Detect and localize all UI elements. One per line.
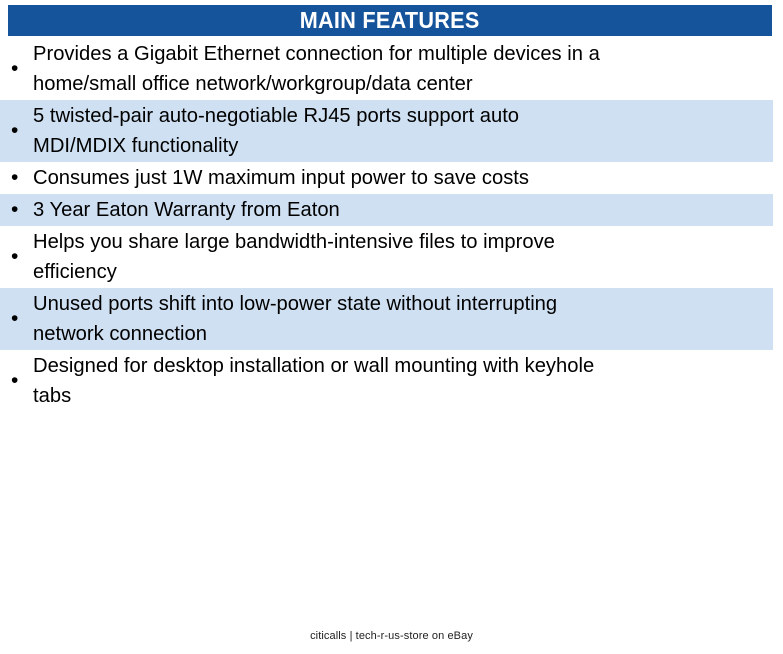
list-item-text: Helps you share large bandwidth-intensiv…: [33, 227, 762, 287]
main-features-header: MAIN FEATURES: [8, 5, 772, 36]
list-item-text: 5 twisted-pair auto-negotiable RJ45 port…: [33, 101, 762, 161]
footer-attribution: citicalls | tech-r-us-store on eBay: [310, 630, 473, 642]
bullet-icon: •: [11, 167, 33, 188]
bullet-icon: •: [11, 199, 33, 220]
list-item-text: 3 Year Eaton Warranty from Eaton: [33, 195, 762, 225]
list-item-text: Consumes just 1W maximum input power to …: [33, 163, 762, 193]
bullet-icon: •: [11, 370, 33, 391]
feature-sheet: MAIN FEATURES • Provides a Gigabit Ether…: [0, 0, 783, 654]
list-item: • Designed for desktop installation or w…: [0, 350, 773, 412]
list-item: • Consumes just 1W maximum input power t…: [0, 162, 773, 194]
list-item-text: Designed for desktop installation or wal…: [33, 351, 762, 411]
list-item-text: Unused ports shift into low-power state …: [33, 289, 762, 349]
footer: citicalls | tech-r-us-store on eBay: [0, 626, 783, 644]
list-item: • 3 Year Eaton Warranty from Eaton: [0, 194, 773, 226]
list-item: • Provides a Gigabit Ethernet connection…: [0, 38, 773, 100]
bullet-icon: •: [11, 246, 33, 267]
bullet-icon: •: [11, 58, 33, 79]
list-item: • 5 twisted-pair auto-negotiable RJ45 po…: [0, 100, 773, 162]
bullet-icon: •: [11, 120, 33, 141]
list-item: • Unused ports shift into low-power stat…: [0, 288, 773, 350]
page-title: MAIN FEATURES: [300, 9, 480, 32]
list-item-text: Provides a Gigabit Ethernet connection f…: [33, 39, 762, 99]
list-item: • Helps you share large bandwidth-intens…: [0, 226, 773, 288]
feature-list: • Provides a Gigabit Ethernet connection…: [0, 38, 783, 412]
bullet-icon: •: [11, 308, 33, 329]
